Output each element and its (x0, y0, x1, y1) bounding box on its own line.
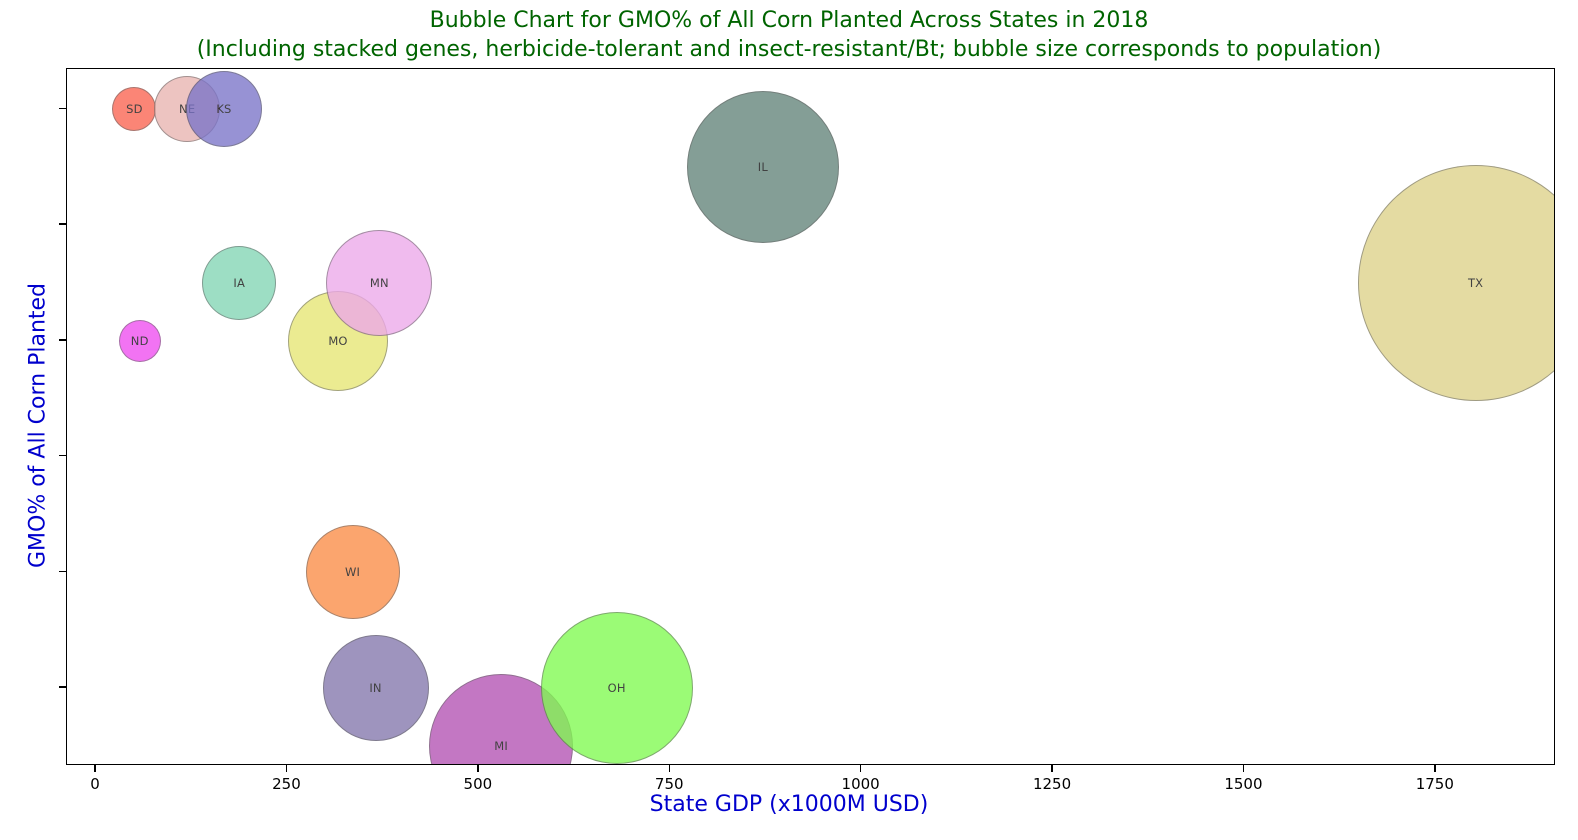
bubble-oh[interactable]: OH (541, 612, 693, 764)
bubble-wi[interactable]: WI (306, 525, 400, 619)
x-tick-label: 1750 (1395, 775, 1475, 793)
y-axis-label: GMO% of All Corn Planted (26, 76, 51, 776)
bubble-label-in: IN (369, 681, 381, 695)
chart-subtitle: (Including stacked genes, herbicide-tole… (0, 35, 1578, 64)
x-tick-label: 0 (55, 775, 135, 793)
x-tick-mark (1434, 765, 1435, 772)
y-tick-mark (59, 455, 66, 456)
bubble-il[interactable]: IL (687, 91, 839, 243)
x-tick-label: 1000 (821, 775, 901, 793)
bubble-tx[interactable]: TX (1358, 165, 1555, 401)
bubble-label-mn: MN (370, 276, 389, 290)
x-tick-mark (1243, 765, 1244, 772)
x-tick-mark (669, 765, 670, 772)
x-tick-label: 250 (246, 775, 326, 793)
x-tick-mark (860, 765, 861, 772)
y-tick-mark (59, 339, 66, 340)
x-tick-mark (286, 765, 287, 772)
x-tick-mark (1051, 765, 1052, 772)
x-tick-label: 750 (629, 775, 709, 793)
bubble-label-ia: IA (233, 276, 245, 290)
x-tick-label: 500 (438, 775, 518, 793)
bubble-label-ks: KS (216, 102, 231, 116)
chart-title: Bubble Chart for GMO% of All Corn Plante… (0, 6, 1578, 35)
bubble-nd[interactable]: ND (119, 320, 161, 362)
bubble-sd[interactable]: SD (112, 87, 156, 131)
x-tick-mark (94, 765, 95, 772)
bubble-label-oh: OH (608, 681, 626, 695)
y-tick-mark (59, 686, 66, 687)
bubble-label-wi: WI (345, 565, 360, 579)
bubble-ks[interactable]: KS (186, 71, 262, 147)
x-tick-label: 1500 (1203, 775, 1283, 793)
bubble-label-nd: ND (131, 334, 149, 348)
x-axis-label: State GDP (x1000M USD) (0, 792, 1578, 817)
x-tick-label: 1250 (1012, 775, 1092, 793)
bubble-label-mo: MO (328, 334, 347, 348)
y-tick-mark (59, 571, 66, 572)
bubble-in[interactable]: IN (323, 635, 429, 741)
bubble-label-il: IL (758, 160, 768, 174)
bubble-label-mi: MI (494, 739, 508, 753)
bubble-mn[interactable]: MN (326, 230, 432, 336)
bubble-label-tx: TX (1468, 276, 1483, 290)
y-tick-mark (59, 108, 66, 109)
y-tick-mark (59, 223, 66, 224)
bubble-label-sd: SD (126, 102, 143, 116)
chart-title-block: Bubble Chart for GMO% of All Corn Plante… (0, 6, 1578, 64)
plot-area: SDNEKSNDIAMOMNILTXWIINMIOH (66, 68, 1555, 765)
x-tick-mark (477, 765, 478, 772)
bubble-ia[interactable]: IA (202, 246, 276, 320)
bubble-chart-figure: Bubble Chart for GMO% of All Corn Plante… (0, 0, 1578, 840)
